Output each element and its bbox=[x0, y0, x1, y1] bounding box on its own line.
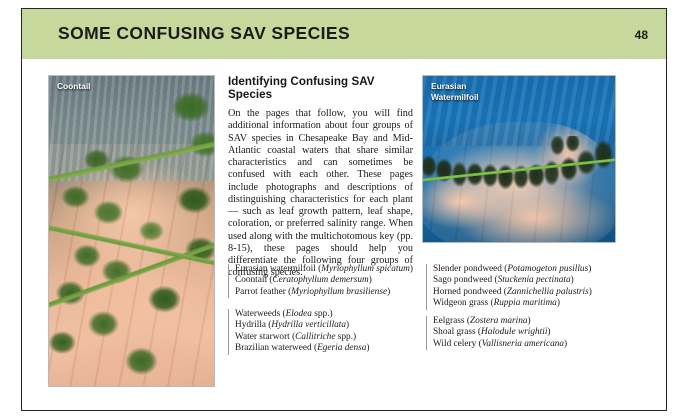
photo-coontail: Coontail bbox=[48, 75, 215, 387]
species-scientific-name: Halodule wrightii bbox=[481, 327, 547, 337]
species-list-item: Horned pondweed (Zannichellia palustris) bbox=[433, 287, 626, 298]
species-group-milfoils: Eurasian watermilfoil (Myriophyllum spic… bbox=[228, 264, 420, 298]
species-list-item: Hydrilla (Hydrilla verticillata) bbox=[235, 320, 420, 331]
species-scientific-name: Ceratophyllum demersum bbox=[272, 275, 368, 285]
species-list-item: Brazilian waterweed (Egeria densa) bbox=[235, 343, 420, 354]
species-name-suffix: ) bbox=[589, 287, 592, 297]
species-scientific-name: Egeria densa bbox=[317, 343, 366, 353]
species-scientific-name: Zostera marina bbox=[470, 316, 528, 326]
species-name-suffix: ) bbox=[588, 264, 591, 274]
species-group-waterweeds: Waterweeds (Elodea spp.)Hydrilla (Hydril… bbox=[228, 309, 420, 355]
article-heading: Identifying Confusing SAV Species bbox=[228, 75, 413, 101]
species-common-name: Sago pondweed ( bbox=[433, 275, 498, 285]
species-scientific-name: Elodea bbox=[286, 309, 312, 319]
species-list-item: Water starwort (Callitriche spp.) bbox=[235, 332, 420, 343]
page-content: Coontail Eurasian Watermilfoil Identifyi… bbox=[22, 59, 666, 410]
species-scientific-name: Myriophyllum spicatum bbox=[321, 264, 410, 274]
species-name-suffix: spp.) bbox=[335, 332, 356, 342]
species-list-item: Waterweeds (Elodea spp.) bbox=[235, 309, 420, 320]
species-name-suffix: ) bbox=[346, 320, 349, 330]
page-number: 48 bbox=[635, 28, 648, 42]
species-common-name: Parrot feather ( bbox=[235, 287, 291, 297]
species-list-item: Sago pondweed (Stuckenia pectinata) bbox=[433, 275, 626, 286]
species-scientific-name: Zannichellia palustris bbox=[507, 287, 589, 297]
species-name-suffix: ) bbox=[557, 298, 560, 308]
page-frame: SOME CONFUSING SAV SPECIES 48 Coontail E… bbox=[21, 8, 667, 411]
species-list-item: Slender pondweed (Potamogeton pusillus) bbox=[433, 264, 626, 275]
article-body: On the pages that follow, you will find … bbox=[228, 108, 413, 280]
species-common-name: Wild celery ( bbox=[433, 339, 482, 349]
species-scientific-name: Hydrilla verticillata bbox=[271, 320, 346, 330]
species-name-suffix: ) bbox=[528, 316, 531, 326]
species-name-suffix: ) bbox=[366, 343, 369, 353]
species-common-name: Widgeon grass ( bbox=[433, 298, 494, 308]
species-common-name: Slender pondweed ( bbox=[433, 264, 507, 274]
page-title: SOME CONFUSING SAV SPECIES bbox=[58, 23, 350, 44]
species-common-name: Water starwort ( bbox=[235, 332, 295, 342]
photo-caption-coontail: Coontail bbox=[57, 81, 91, 92]
species-scientific-name: Callitriche bbox=[295, 332, 335, 342]
species-name-suffix: ) bbox=[410, 264, 413, 274]
species-list-item: Coontail (Ceratophyllum demersum) bbox=[235, 275, 420, 286]
species-list-item: Eurasian watermilfoil (Myriophyllum spic… bbox=[235, 264, 420, 275]
photo-caption-eurasian-watermilfoil: Eurasian Watermilfoil bbox=[431, 81, 479, 103]
photo-eurasian-watermilfoil: Eurasian Watermilfoil bbox=[422, 75, 616, 243]
species-name-suffix: ) bbox=[547, 327, 550, 337]
coontail-stems bbox=[49, 76, 214, 386]
species-common-name: Waterweeds ( bbox=[235, 309, 286, 319]
species-group-grasses: Eelgrass (Zostera marina)Shoal grass (Ha… bbox=[426, 316, 626, 350]
species-list-item: Wild celery (Vallisneria americana) bbox=[433, 339, 626, 350]
species-common-name: Horned pondweed ( bbox=[433, 287, 507, 297]
species-list-item: Widgeon grass (Ruppia maritima) bbox=[433, 298, 626, 309]
species-scientific-name: Stuckenia pectinata bbox=[498, 275, 571, 285]
article-column: Identifying Confusing SAV Species On the… bbox=[228, 75, 413, 280]
species-list-item: Shoal grass (Halodule wrightii) bbox=[433, 327, 626, 338]
species-scientific-name: Myriophyllum brasiliense bbox=[291, 287, 387, 297]
watermilfoil-stem bbox=[423, 136, 615, 202]
species-common-name: Eelgrass ( bbox=[433, 316, 470, 326]
page-header-band: SOME CONFUSING SAV SPECIES 48 bbox=[22, 9, 666, 59]
species-name-suffix: ) bbox=[387, 287, 390, 297]
species-common-name: Shoal grass ( bbox=[433, 327, 481, 337]
species-list-item: Eelgrass (Zostera marina) bbox=[433, 316, 626, 327]
species-common-name: Brazilian waterweed ( bbox=[235, 343, 317, 353]
species-name-suffix: ) bbox=[564, 339, 567, 349]
species-scientific-name: Ruppia maritima bbox=[494, 298, 557, 308]
species-name-suffix: spp.) bbox=[312, 309, 333, 319]
species-group-pondweeds: Slender pondweed (Potamogeton pusillus)S… bbox=[426, 264, 626, 310]
species-common-name: Hydrilla ( bbox=[235, 320, 271, 330]
species-scientific-name: Potamogeton pusillus bbox=[507, 264, 588, 274]
species-name-suffix: ) bbox=[369, 275, 372, 285]
species-common-name: Eurasian watermilfoil ( bbox=[235, 264, 321, 274]
species-scientific-name: Vallisneria americana bbox=[482, 339, 564, 349]
species-common-name: Coontail ( bbox=[235, 275, 272, 285]
species-list-item: Parrot feather (Myriophyllum brasiliense… bbox=[235, 287, 420, 298]
species-name-suffix: ) bbox=[571, 275, 574, 285]
